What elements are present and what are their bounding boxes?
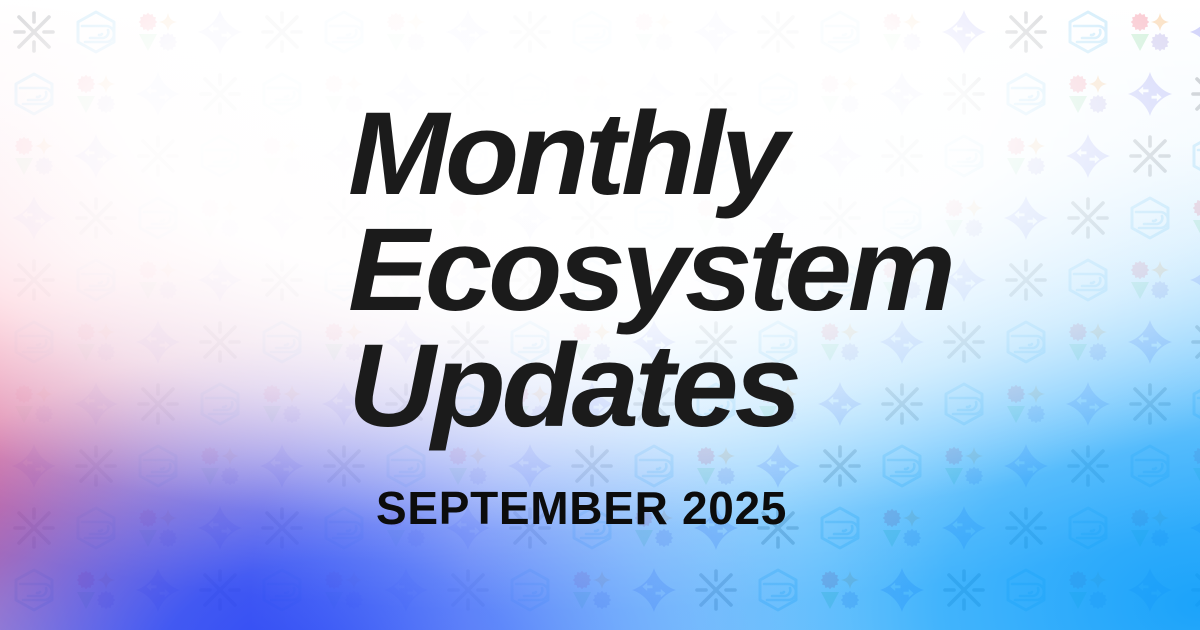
shape-cluster-icon	[1126, 256, 1174, 304]
hexagon-swirl-icon	[1188, 380, 1200, 428]
arrow-diamond-icon	[630, 566, 678, 614]
hexagon-swirl-icon	[1002, 566, 1050, 614]
shape-cluster-icon	[196, 442, 244, 490]
page-title: Monthly Ecosystem Updates	[348, 96, 1131, 445]
hexagon-swirl-icon	[568, 8, 616, 56]
hexagon-swirl-icon	[196, 380, 244, 428]
hexagon-swirl-icon	[258, 566, 306, 614]
arrow-diamond-icon	[1188, 256, 1200, 304]
arrow-diamond-icon	[258, 442, 306, 490]
shape-cluster-icon	[382, 8, 430, 56]
hexagon-swirl-icon	[258, 318, 306, 366]
arrow-diamond-icon	[1126, 318, 1174, 366]
starburst-icon	[196, 566, 244, 614]
starburst-icon	[258, 8, 306, 56]
arrow-diamond-icon	[10, 194, 58, 242]
shape-cluster-icon	[630, 8, 678, 56]
shape-cluster-icon	[1064, 566, 1112, 614]
starburst-icon	[506, 8, 554, 56]
hexagon-swirl-icon	[1126, 442, 1174, 490]
arrow-diamond-icon	[1188, 8, 1200, 56]
arrow-diamond-icon	[196, 8, 244, 56]
starburst-icon	[72, 442, 120, 490]
starburst-icon	[72, 194, 120, 242]
hexagon-swirl-icon	[320, 8, 368, 56]
arrow-diamond-icon	[10, 442, 58, 490]
shape-cluster-icon	[134, 256, 182, 304]
shape-cluster-icon	[258, 380, 306, 428]
starburst-icon	[10, 504, 58, 552]
shape-cluster-icon	[1188, 194, 1200, 242]
starburst-icon	[196, 318, 244, 366]
shape-cluster-icon	[134, 504, 182, 552]
starburst-icon	[258, 256, 306, 304]
starburst-icon	[1188, 70, 1200, 118]
starburst-icon	[692, 566, 740, 614]
hexagon-swirl-icon	[816, 8, 864, 56]
shape-cluster-icon	[72, 566, 120, 614]
starburst-icon	[258, 504, 306, 552]
arrow-diamond-icon	[196, 256, 244, 304]
shape-cluster-icon	[72, 318, 120, 366]
arrow-diamond-icon	[444, 8, 492, 56]
arrow-diamond-icon	[382, 566, 430, 614]
shape-cluster-icon	[320, 566, 368, 614]
arrow-diamond-icon	[940, 8, 988, 56]
arrow-diamond-icon	[134, 70, 182, 118]
starburst-icon	[1188, 566, 1200, 614]
starburst-icon	[1126, 380, 1174, 428]
banner-graphic: Monthly Ecosystem Updates SEPTEMBER 2025	[0, 0, 1200, 630]
arrow-diamond-icon	[878, 566, 926, 614]
starburst-icon	[1188, 318, 1200, 366]
shape-cluster-icon	[568, 566, 616, 614]
starburst-icon	[444, 566, 492, 614]
hexagon-swirl-icon	[196, 132, 244, 180]
hexagon-swirl-icon	[1064, 8, 1112, 56]
shape-cluster-icon	[878, 8, 926, 56]
arrow-diamond-icon	[72, 380, 120, 428]
shape-cluster-icon	[10, 132, 58, 180]
hexagon-swirl-icon	[72, 504, 120, 552]
hexagon-swirl-icon	[506, 566, 554, 614]
starburst-icon	[10, 8, 58, 56]
starburst-icon	[134, 132, 182, 180]
arrow-diamond-icon	[196, 504, 244, 552]
arrow-diamond-icon	[134, 566, 182, 614]
starburst-icon	[1126, 132, 1174, 180]
arrow-diamond-icon	[1188, 504, 1200, 552]
shape-cluster-icon	[1126, 8, 1174, 56]
hexagon-swirl-icon	[134, 194, 182, 242]
starburst-icon	[196, 70, 244, 118]
starburst-icon	[10, 256, 58, 304]
banner-text-block: Monthly Ecosystem Updates SEPTEMBER 2025	[348, 96, 1108, 531]
shape-cluster-icon	[1188, 442, 1200, 490]
banner-date-subtitle: SEPTEMBER 2025	[376, 485, 1108, 531]
arrow-diamond-icon	[258, 194, 306, 242]
hexagon-swirl-icon	[1188, 132, 1200, 180]
shape-cluster-icon	[10, 380, 58, 428]
shape-cluster-icon	[1126, 504, 1174, 552]
hexagon-swirl-icon	[72, 256, 120, 304]
arrow-diamond-icon	[72, 132, 120, 180]
hexagon-swirl-icon	[754, 566, 802, 614]
hexagon-swirl-icon	[134, 442, 182, 490]
starburst-icon	[1002, 8, 1050, 56]
arrow-diamond-icon	[134, 318, 182, 366]
arrow-diamond-icon	[1126, 70, 1174, 118]
starburst-icon	[134, 380, 182, 428]
hexagon-swirl-icon	[258, 70, 306, 118]
arrow-diamond-icon	[692, 8, 740, 56]
hexagon-swirl-icon	[10, 566, 58, 614]
starburst-icon	[940, 566, 988, 614]
starburst-icon	[754, 8, 802, 56]
hexagon-swirl-icon	[10, 318, 58, 366]
shape-cluster-icon	[258, 132, 306, 180]
hexagon-swirl-icon	[1126, 194, 1174, 242]
shape-cluster-icon	[72, 70, 120, 118]
shape-cluster-icon	[816, 566, 864, 614]
arrow-diamond-icon	[1126, 566, 1174, 614]
shape-cluster-icon	[134, 8, 182, 56]
hexagon-swirl-icon	[72, 8, 120, 56]
shape-cluster-icon	[196, 194, 244, 242]
hexagon-swirl-icon	[10, 70, 58, 118]
